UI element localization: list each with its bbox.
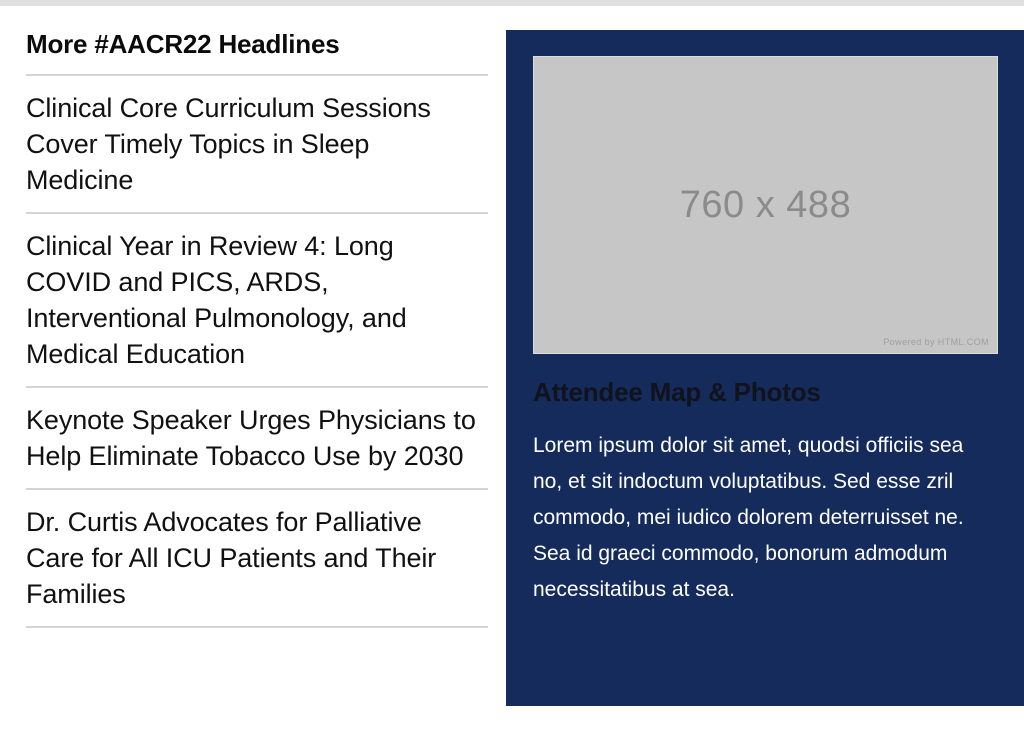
headline-link[interactable]: Clinical Year in Review 4: Long COVID an… (0, 228, 506, 372)
list-item: Clinical Year in Review 4: Long COVID an… (0, 212, 506, 372)
list-item: Keynote Speaker Urges Physicians to Help… (0, 386, 506, 474)
placeholder-dimensions-label: 760 x 488 (534, 183, 997, 227)
headline-link[interactable]: Clinical Core Curriculum Sessions Cover … (0, 90, 506, 198)
divider (26, 74, 488, 76)
promo-heading: Attendee Map & Photos (533, 354, 998, 408)
headlines-section-title: More #AACR22 Headlines (0, 6, 506, 60)
list-item: Dr. Curtis Advocates for Palliative Care… (0, 488, 506, 612)
headline-list: Clinical Core Curriculum Sessions Cover … (0, 74, 506, 628)
list-item: Clinical Core Curriculum Sessions Cover … (0, 74, 506, 198)
placeholder-credit-label: Powered by HTML.COM (883, 336, 989, 348)
headline-link[interactable]: Dr. Curtis Advocates for Palliative Care… (0, 504, 506, 612)
headline-link[interactable]: Keynote Speaker Urges Physicians to Help… (0, 402, 506, 474)
divider (26, 626, 488, 628)
headlines-column: More #AACR22 Headlines Clinical Core Cur… (0, 6, 506, 737)
list-item-end (0, 626, 506, 628)
promo-body-text: Lorem ipsum dolor sit amet, quodsi offic… (533, 408, 993, 608)
attendee-promo-panel: 760 x 488 Powered by HTML.COM Attendee M… (506, 30, 1024, 706)
promo-image-placeholder[interactable]: 760 x 488 Powered by HTML.COM (533, 56, 998, 354)
divider (26, 488, 488, 490)
page-root: More #AACR22 Headlines Clinical Core Cur… (0, 0, 1024, 737)
divider (26, 386, 488, 388)
divider (26, 212, 488, 214)
